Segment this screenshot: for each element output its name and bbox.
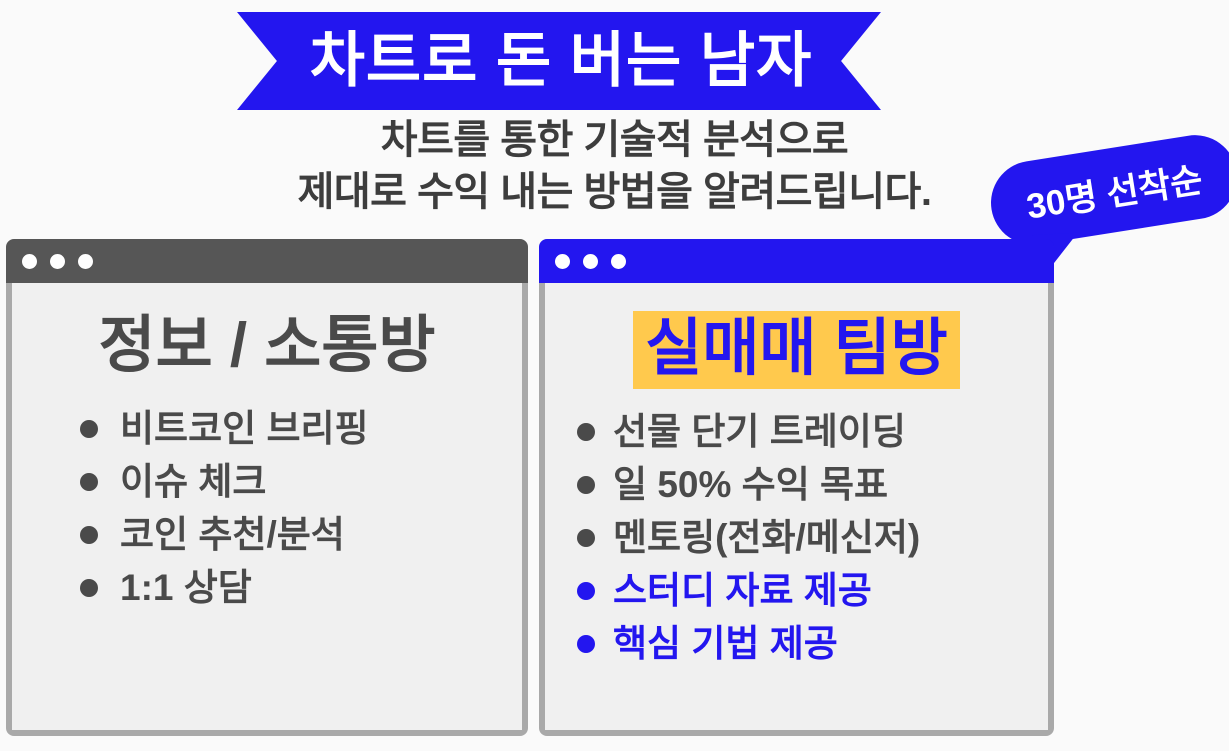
list-item-label: 비트코인 브리핑 bbox=[120, 402, 369, 455]
bullet-dot-icon bbox=[577, 423, 595, 441]
promo-graphic: 차트로 돈 버는 남자 차트를 통한 기술적 분석으로 제대로 수익 내는 방법… bbox=[0, 0, 1229, 751]
badge-label: 30명 선착순 bbox=[1022, 151, 1205, 229]
list-item: 비트코인 브리핑 bbox=[80, 402, 512, 455]
window-dot-icon bbox=[22, 254, 37, 269]
list-item-label: 이슈 체크 bbox=[120, 455, 266, 508]
list-item-label: 선물 단기 트레이딩 bbox=[613, 405, 906, 458]
list-item: 스터디 자료 제공 bbox=[577, 564, 1038, 617]
list-item: 코인 추천/분석 bbox=[80, 508, 512, 561]
card-heading-text: 정보 / 소통방 bbox=[99, 311, 436, 380]
bullet-dot-icon bbox=[80, 420, 98, 438]
card-trading-team-room: 실매매 팀방 선물 단기 트레이딩 일 50% 수익 목표 멘토링(전화/메신저… bbox=[539, 239, 1054, 736]
window-dot-icon bbox=[78, 254, 93, 269]
card-titlebar bbox=[6, 239, 528, 283]
bullet-dot-icon bbox=[577, 635, 595, 653]
list-item-label: 스터디 자료 제공 bbox=[613, 564, 872, 617]
list-item: 이슈 체크 bbox=[80, 455, 512, 508]
card-heading: 실매매 팀방 bbox=[555, 311, 1038, 389]
card-body: 정보 / 소통방 비트코인 브리핑 이슈 체크 코인 추천/분석 1:1 상담 bbox=[12, 283, 522, 730]
bullet-dot-icon bbox=[577, 529, 595, 547]
bullet-dot-icon bbox=[80, 473, 98, 491]
bullet-dot-icon bbox=[80, 579, 98, 597]
card-info-room: 정보 / 소통방 비트코인 브리핑 이슈 체크 코인 추천/분석 1:1 상담 bbox=[6, 239, 528, 736]
feature-list: 선물 단기 트레이딩 일 50% 수익 목표 멘토링(전화/메신저) 스터디 자… bbox=[555, 405, 1038, 670]
list-item-label: 코인 추천/분석 bbox=[120, 508, 345, 561]
list-item-label: 핵심 기법 제공 bbox=[613, 617, 838, 670]
window-dot-icon bbox=[611, 254, 626, 269]
window-dot-icon bbox=[583, 254, 598, 269]
card-heading: 정보 / 소통방 bbox=[22, 311, 512, 380]
list-item: 선물 단기 트레이딩 bbox=[577, 405, 1038, 458]
list-item: 1:1 상담 bbox=[80, 561, 512, 614]
list-item-label: 멘토링(전화/메신저) bbox=[613, 511, 920, 564]
window-dot-icon bbox=[555, 254, 570, 269]
feature-list: 비트코인 브리핑 이슈 체크 코인 추천/분석 1:1 상담 bbox=[22, 402, 512, 614]
window-dot-icon bbox=[50, 254, 65, 269]
list-item: 멘토링(전화/메신저) bbox=[577, 511, 1038, 564]
list-item-label: 일 50% 수익 목표 bbox=[613, 458, 888, 511]
bullet-dot-icon bbox=[80, 526, 98, 544]
card-titlebar bbox=[539, 239, 1054, 283]
list-item: 일 50% 수익 목표 bbox=[577, 458, 1038, 511]
card-heading-text: 실매매 팀방 bbox=[633, 311, 959, 389]
bullet-dot-icon bbox=[577, 476, 595, 494]
bullet-dot-icon bbox=[577, 582, 595, 600]
list-item: 핵심 기법 제공 bbox=[577, 617, 1038, 670]
ribbon-banner: 차트로 돈 버는 남자 bbox=[237, 12, 881, 110]
list-item-label: 1:1 상담 bbox=[120, 561, 252, 614]
banner-title: 차트로 돈 버는 남자 bbox=[310, 31, 813, 91]
card-body: 실매매 팀방 선물 단기 트레이딩 일 50% 수익 목표 멘토링(전화/메신저… bbox=[545, 283, 1048, 730]
